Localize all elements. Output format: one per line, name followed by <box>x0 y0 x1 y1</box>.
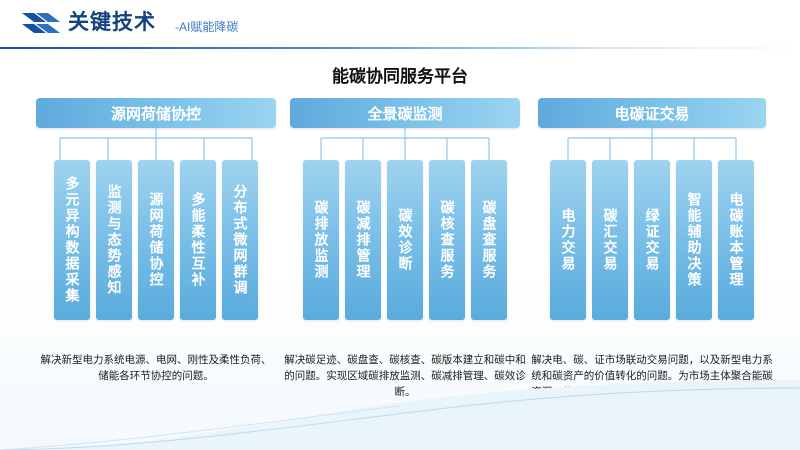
group-description-3: 解决电、碳、证市场联动交易问题，以及新型电力系统和碳资产的价值转化的问题。为市场… <box>528 352 776 416</box>
card-item[interactable]: 碳排放监测 <box>303 160 339 320</box>
connector-lines-1 <box>36 128 276 160</box>
card-item[interactable]: 多元异构数据采集 <box>54 160 90 320</box>
group-description-1: 解决新型电力系统电源、电网、刚性及柔性负荷、储能各环节协控的问题。 <box>36 352 276 384</box>
header-divider <box>0 47 800 49</box>
card-item[interactable]: 监测与态势感知 <box>96 160 132 320</box>
group-1-container: 源网荷储协控 <box>36 98 276 128</box>
connector-lines-2 <box>290 128 520 160</box>
slide-canvas: 关键技术 -AI赋能降碳 能碳协同服务平台 源网荷储协控 多元异构数据采集 监测… <box>0 0 800 450</box>
card-item[interactable]: 智能辅助决策 <box>676 160 712 320</box>
card-item[interactable]: 分布式微网群调 <box>222 160 258 320</box>
group-header-1[interactable]: 源网荷储协控 <box>36 98 276 128</box>
group-header-3[interactable]: 电碳证交易 <box>538 98 766 128</box>
card-item[interactable]: 碳效诊断 <box>387 160 423 320</box>
connector-lines-3 <box>538 128 766 160</box>
card-item[interactable]: 碳减排管理 <box>345 160 381 320</box>
slide-header: 关键技术 -AI赋能降碳 <box>0 0 800 48</box>
page-title: 能碳协同服务平台 <box>0 62 800 87</box>
card-item[interactable]: 电碳账本管理 <box>718 160 754 320</box>
card-item[interactable]: 绿证交易 <box>634 160 670 320</box>
card-list-2: 碳排放监测 碳减排管理 碳效诊断 碳核查服务 碳盘查服务 <box>290 160 520 320</box>
card-list-3: 电力交易 碳汇交易 绿证交易 智能辅助决策 电碳账本管理 <box>538 160 766 320</box>
header-subtitle: -AI赋能降碳 <box>175 19 238 35</box>
card-item[interactable]: 多能柔性互补 <box>180 160 216 320</box>
card-item[interactable]: 碳汇交易 <box>592 160 628 320</box>
card-item[interactable]: 源网荷储协控 <box>138 160 174 320</box>
header-title: 关键技术 <box>68 10 156 36</box>
double-chevron-right-icon <box>22 11 62 35</box>
group-3-container: 电碳证交易 <box>538 98 766 128</box>
group-header-2[interactable]: 全景碳监测 <box>290 98 520 128</box>
group-description-2: 解决碳足迹、碳盘查、碳核查、碳版本建立和碳中和的问题。实现区域碳排放监测、碳减排… <box>284 352 526 400</box>
card-item[interactable]: 电力交易 <box>550 160 586 320</box>
group-2-container: 全景碳监测 <box>290 98 520 128</box>
card-list-1: 多元异构数据采集 监测与态势感知 源网荷储协控 多能柔性互补 分布式微网群调 <box>36 160 276 320</box>
card-item[interactable]: 碳核查服务 <box>429 160 465 320</box>
card-item[interactable]: 碳盘查服务 <box>471 160 507 320</box>
